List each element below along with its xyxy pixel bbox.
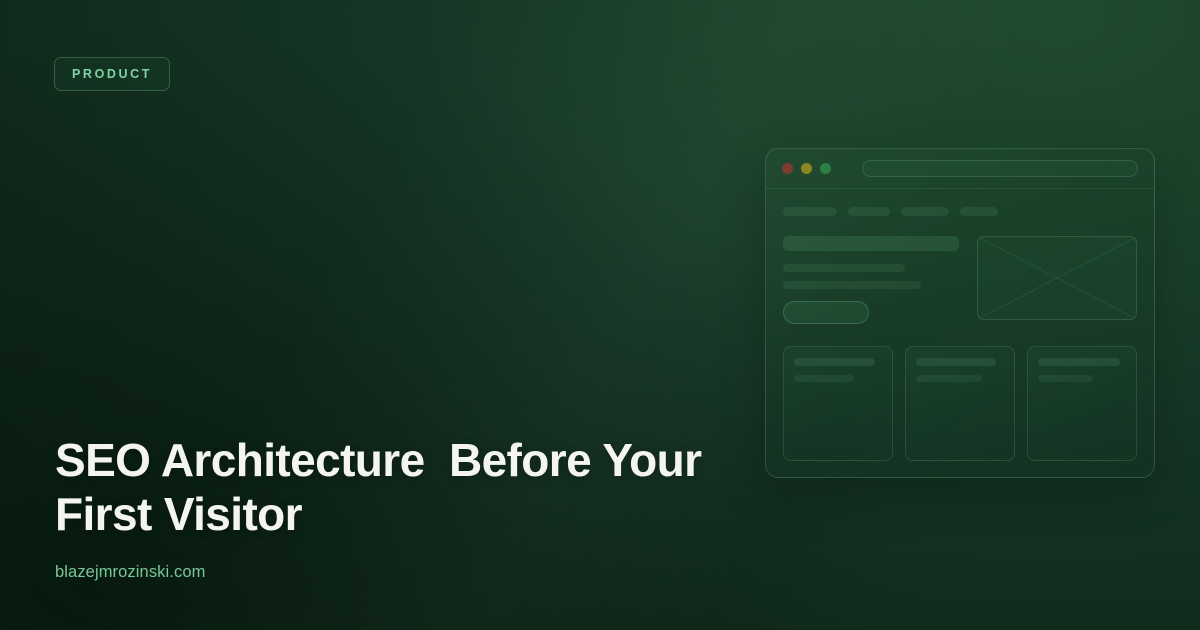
text-line-placeholder xyxy=(783,264,905,272)
social-card-canvas: PRODUCT xyxy=(0,0,1200,630)
nav-pill-row xyxy=(783,207,1137,216)
card-row xyxy=(783,346,1137,461)
card-item[interactable] xyxy=(905,346,1015,461)
nav-pill-item[interactable] xyxy=(901,207,949,216)
browser-body xyxy=(766,189,1154,461)
url-bar[interactable] xyxy=(862,160,1138,177)
card-title-placeholder xyxy=(794,358,875,366)
image-placeholder xyxy=(977,236,1137,320)
page-title: SEO Architecture Before Your First Visit… xyxy=(55,434,705,542)
site-domain: blazejmrozinski.com xyxy=(55,563,705,582)
nav-pill-item[interactable] xyxy=(960,207,998,216)
maximize-dot-icon[interactable] xyxy=(820,163,831,174)
nav-pill-item[interactable] xyxy=(783,207,837,216)
product-badge-label: PRODUCT xyxy=(72,67,152,81)
nav-pill-item[interactable] xyxy=(848,207,890,216)
card-item[interactable] xyxy=(1027,346,1137,461)
cta-button-placeholder[interactable] xyxy=(783,301,869,324)
card-item[interactable] xyxy=(783,346,893,461)
minimize-dot-icon[interactable] xyxy=(801,163,812,174)
card-subtitle-placeholder xyxy=(794,375,854,382)
close-dot-icon[interactable] xyxy=(782,163,793,174)
browser-titlebar xyxy=(766,149,1154,189)
hero-text-block: SEO Architecture Before Your First Visit… xyxy=(55,434,705,582)
content-left-column xyxy=(783,236,959,324)
product-badge: PRODUCT xyxy=(54,57,170,91)
card-title-placeholder xyxy=(916,358,996,366)
card-subtitle-placeholder xyxy=(1038,375,1093,382)
browser-mockup xyxy=(765,148,1155,478)
card-title-placeholder xyxy=(1038,358,1120,366)
text-line-placeholder xyxy=(783,281,921,289)
card-subtitle-placeholder xyxy=(916,375,982,382)
content-row xyxy=(783,236,1137,324)
traffic-lights xyxy=(782,163,831,174)
image-cross-icon xyxy=(978,237,1136,319)
headline-placeholder xyxy=(783,236,959,251)
